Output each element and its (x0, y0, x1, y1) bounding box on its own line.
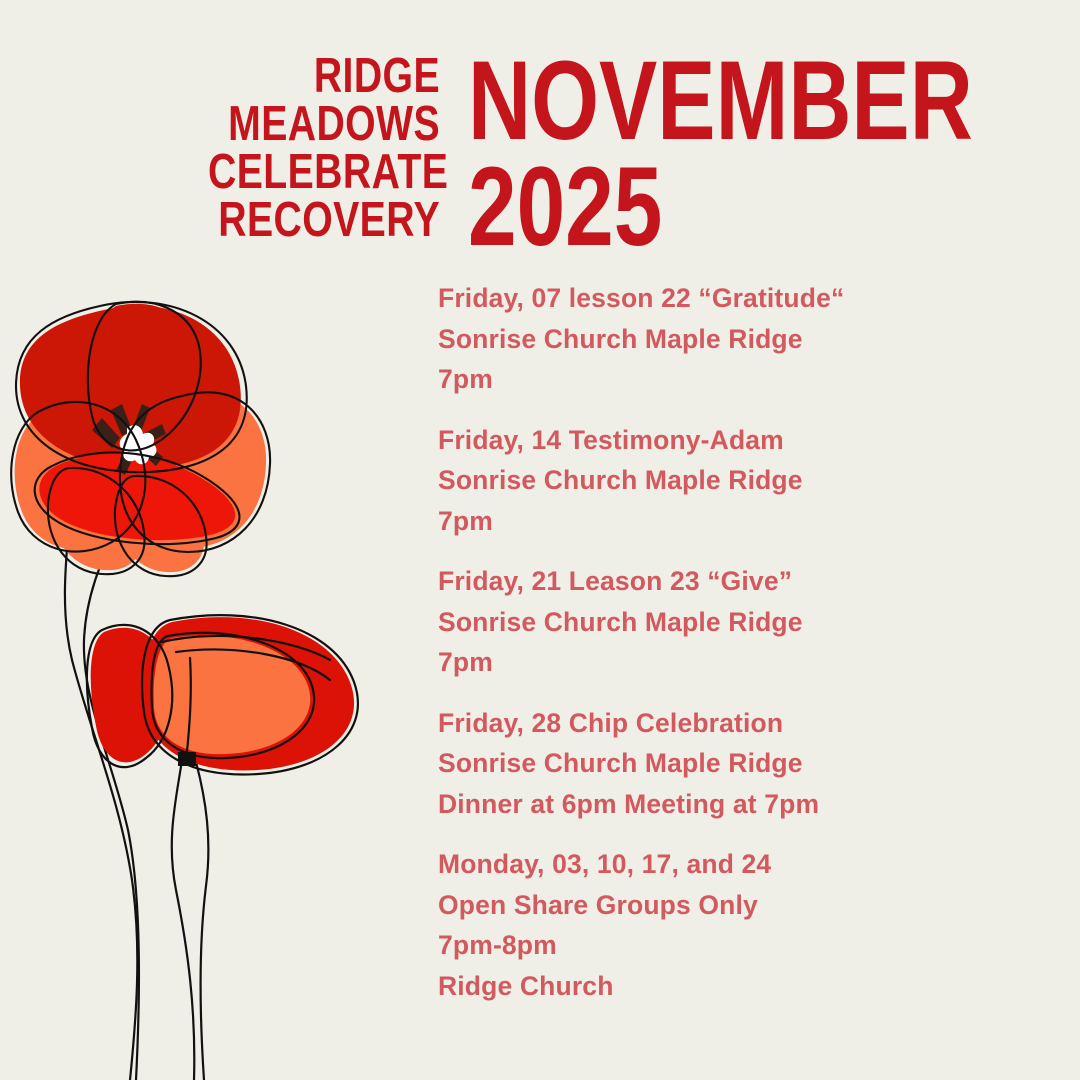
event-3-line-1: Friday, 21 Leason 23 “Give” (438, 561, 1058, 602)
upper-poppy-flower (11, 302, 270, 576)
event-4-line-1: Friday, 28 Chip Celebration (438, 703, 1058, 744)
event-5-line-4: Ridge Church (438, 966, 1058, 1007)
event-1-line-3: 7pm (438, 359, 1058, 400)
event-2-line-2: Sonrise Church Maple Ridge (438, 460, 1058, 501)
brand-line-1: RIDGE (208, 52, 440, 100)
petal-red-top-right (91, 304, 199, 448)
event-block-3: Friday, 21 Leason 23 “Give” Sonrise Chur… (438, 561, 1058, 683)
poster-canvas: RIDGE MEADOWS CELEBRATE RECOVERY NOVEMBE… (0, 0, 1080, 1080)
event-5-line-2: Open Share Groups Only (438, 885, 1058, 926)
flower-center (120, 425, 157, 464)
petal-orange-left (15, 405, 144, 550)
petal-red-front (39, 454, 235, 540)
flower-stems (65, 512, 208, 1080)
petal-orange-lower-mid (118, 478, 205, 572)
event-1-line-2: Sonrise Church Maple Ridge (438, 319, 1058, 360)
schedule-list: Friday, 07 lesson 22 “Gratitude“ Sonrise… (438, 278, 1058, 1006)
brand-line-4: RECOVERY (208, 196, 440, 244)
month-year-heading: NOVEMBER 2025 (468, 48, 973, 261)
event-block-2: Friday, 14 Testimony-Adam Sonrise Church… (438, 420, 1058, 542)
brand-line-2: MEADOWS (208, 100, 440, 148)
upper-poppy-outlines (11, 302, 270, 576)
petal-orange-right (124, 394, 266, 548)
event-3-line-3: 7pm (438, 642, 1058, 683)
event-block-5: Monday, 03, 10, 17, and 24 Open Share Gr… (438, 844, 1058, 1006)
lower-flower-base-knot (178, 752, 196, 766)
event-4-line-3: Dinner at 6pm Meeting at 7pm (438, 784, 1058, 825)
event-4-line-2: Sonrise Church Maple Ridge (438, 743, 1058, 784)
event-2-line-1: Friday, 14 Testimony-Adam (438, 420, 1058, 461)
lower-petal-orange (154, 635, 311, 754)
event-block-4: Friday, 28 Chip Celebration Sonrise Chur… (438, 703, 1058, 825)
flower-stamens (92, 404, 166, 475)
event-block-1: Friday, 07 lesson 22 “Gratitude“ Sonrise… (438, 278, 1058, 400)
heading-year: 2025 (468, 154, 973, 260)
event-5-line-1: Monday, 03, 10, 17, and 24 (438, 844, 1058, 885)
event-3-line-2: Sonrise Church Maple Ridge (438, 602, 1058, 643)
event-1-line-1: Friday, 07 lesson 22 “Gratitude“ (438, 278, 1058, 319)
lower-petal-red-right (144, 617, 354, 770)
heading-month: NOVEMBER (468, 48, 973, 154)
lower-poppy-outlines (87, 615, 358, 774)
lower-poppy-flower (87, 615, 358, 774)
event-2-line-3: 7pm (438, 501, 1058, 542)
brand-line-3: CELEBRATE (208, 148, 440, 196)
petal-orange-lower-left (52, 470, 143, 570)
petal-red-top (20, 306, 241, 468)
brand-title: RIDGE MEADOWS CELEBRATE RECOVERY (208, 52, 440, 244)
event-5-line-3: 7pm-8pm (438, 925, 1058, 966)
lower-petal-red-left (91, 628, 171, 763)
